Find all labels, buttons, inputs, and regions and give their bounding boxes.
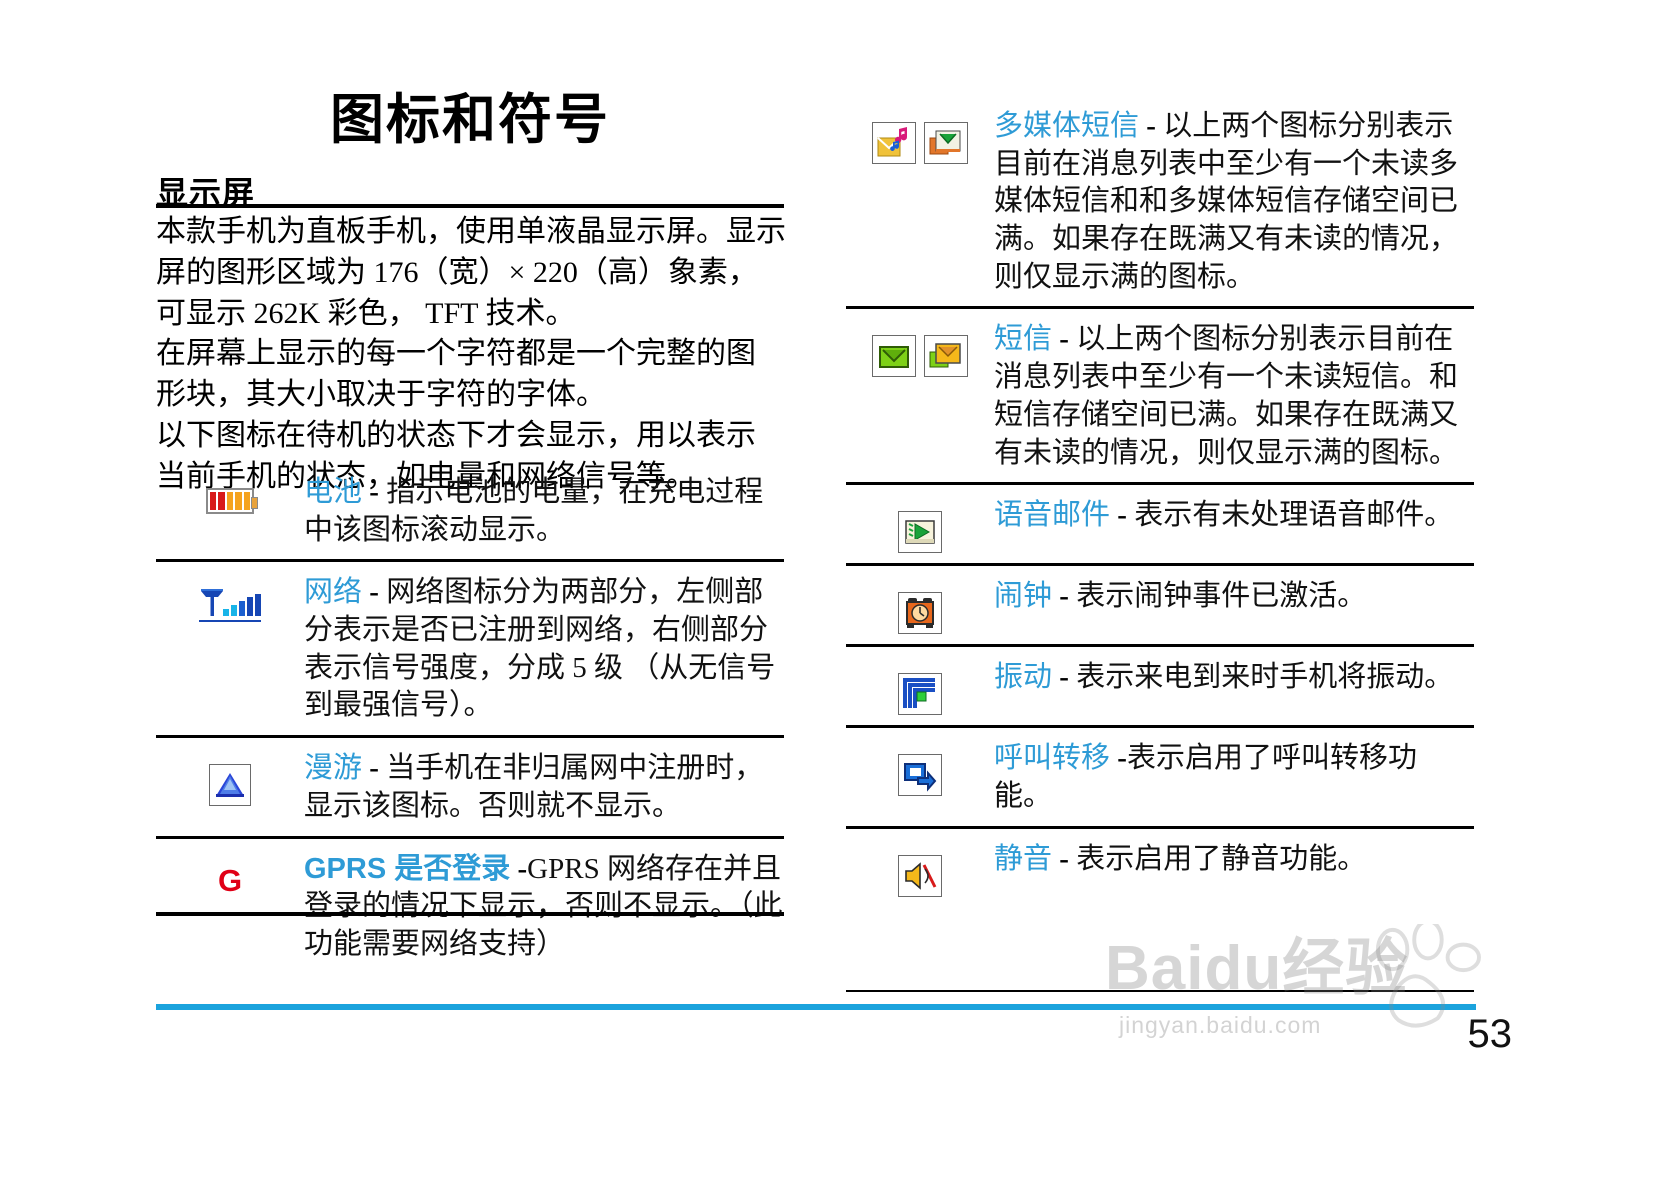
mms-unread-glyph	[876, 126, 912, 160]
intro-line-6: 以下图标在待机的状态下才会显示，用以表示	[156, 416, 788, 457]
battery-bars	[210, 492, 250, 510]
sms-full-glyph	[928, 339, 964, 373]
separator: -	[369, 576, 379, 608]
call-forward-glyph	[902, 758, 938, 792]
table-row: 网络 - 网络图标分为两部分，左侧部分表示是否已注册到网络，右侧部分表示信号强度…	[156, 559, 784, 735]
separator: -	[1059, 843, 1069, 875]
table-row: 短信 - 以上两个图标分别表示目前在消息列表中至少有一个未读短信。和短信存储空间…	[846, 306, 1474, 482]
network-signal-icon	[199, 588, 261, 622]
term-label: 静音	[994, 843, 1052, 875]
right-table-bottom-rule	[846, 990, 1474, 992]
separator: -	[369, 752, 379, 784]
section-rule	[156, 204, 784, 208]
term-label: 短信	[994, 323, 1052, 355]
signal-baseline	[199, 620, 261, 622]
separator: -	[369, 476, 379, 508]
table-row: G GPRS 是否登录 -GPRS 网络存在并且登录的情况下显示，否则不显示。（…	[156, 836, 784, 974]
page-title: 图标和符号	[156, 92, 784, 149]
row-text: 闹钟 - 表示闹钟事件已激活。	[994, 578, 1474, 616]
term-label: 网络	[304, 576, 362, 608]
term-label: 漫游	[304, 752, 362, 784]
table-row: 电池 - 指示电池的电量，在充电过程中该图标滚动显示。	[156, 462, 784, 559]
term-label: 语音邮件	[994, 499, 1110, 531]
vibrate-glyph	[902, 677, 938, 711]
row-text: GPRS 是否登录 -GPRS 网络存在并且登录的情况下显示，否则不显示。（此功…	[304, 851, 784, 964]
right-icon-table: 多媒体短信 - 以上两个图标分别表示目前在消息列表中至少有一个未读多媒体短信和和…	[846, 96, 1474, 907]
separator: -	[1059, 580, 1069, 612]
row-text: 网络 - 网络图标分为两部分，左侧部分表示是否已注册到网络，右侧部分表示信号强度…	[304, 574, 784, 725]
sms-unread-icon	[872, 335, 916, 377]
row-text: 电池 - 指示电池的电量，在充电过程中该图标滚动显示。	[304, 474, 784, 549]
icon-cell	[156, 750, 304, 806]
separator: -	[1146, 110, 1156, 142]
battery-icon	[206, 488, 254, 514]
mute-glyph	[902, 859, 938, 893]
watermark: Baidu经验 jingyan.baidu.com	[1105, 928, 1495, 1048]
table-row: 闹钟 - 表示闹钟事件已激活。	[846, 563, 1474, 644]
gprs-icon: G	[213, 865, 247, 899]
icon-cell	[846, 841, 994, 897]
battery-cap	[251, 497, 258, 509]
intro-line-4: 在屏幕上显示的每一个字符都是一个完整的图	[156, 334, 788, 375]
mms-unread-icon	[872, 122, 916, 164]
mms-full-glyph	[928, 126, 964, 160]
icon-cell: G	[156, 851, 304, 899]
table-row: 静音 - 表示启用了静音功能。	[846, 826, 1474, 907]
left-icon-table: 电池 - 指示电池的电量，在充电过程中该图标滚动显示。	[156, 462, 784, 974]
icon-cell	[156, 574, 304, 622]
icon-cell	[156, 474, 304, 514]
separator: -	[1059, 661, 1069, 693]
icon-cell	[846, 321, 994, 377]
intro-line-5: 形块，其大小取决于字符的字体。	[156, 375, 788, 416]
antenna-glyph	[199, 588, 225, 616]
table-row: 振动 - 表示来电到来时手机将振动。	[846, 644, 1474, 725]
alarm-clock-glyph	[902, 596, 938, 630]
roaming-glyph	[213, 770, 247, 800]
mms-full-icon	[924, 122, 968, 164]
page-number: 53	[1468, 1012, 1513, 1057]
alarm-clock-icon	[898, 592, 942, 634]
sms-unread-glyph	[876, 339, 912, 373]
icon-cell	[846, 659, 994, 715]
intro-paragraph: 本款手机为直板手机，使用单液晶显示屏。显示 屏的图形区域为 176（宽）× 22…	[156, 212, 788, 498]
mute-icon	[898, 855, 942, 897]
intro-line-2: 屏的图形区域为 176（宽）× 220（高）象素，	[156, 253, 788, 294]
footer-bar	[156, 1004, 1476, 1010]
row-text: 多媒体短信 - 以上两个图标分别表示目前在消息列表中至少有一个未读多媒体短信和和…	[994, 108, 1474, 296]
row-description: 表示有未处理语音邮件。	[1134, 499, 1453, 531]
term-label: GPRS 是否登录	[304, 853, 510, 885]
row-description: 表示来电到来时手机将振动。	[1076, 661, 1453, 693]
manual-page: 图标和符号 显示屏 本款手机为直板手机，使用单液晶显示屏。显示 屏的图形区域为 …	[0, 0, 1680, 1188]
watermark-url: jingyan.baidu.com	[1119, 1012, 1321, 1039]
term-label: 多媒体短信	[994, 110, 1139, 142]
row-text: 振动 - 表示来电到来时手机将振动。	[994, 659, 1474, 697]
separator: -	[1117, 742, 1127, 774]
term-label: 呼叫转移	[994, 742, 1110, 774]
icon-cell	[846, 740, 994, 796]
row-description: 表示闹钟事件已激活。	[1076, 580, 1366, 612]
row-description: 表示启用了静音功能。	[1076, 843, 1366, 875]
term-label: 电池	[304, 476, 362, 508]
table-row: 呼叫转移 -表示启用了呼叫转移功能。	[846, 725, 1474, 825]
row-text: 短信 - 以上两个图标分别表示目前在消息列表中至少有一个未读短信。和短信存储空间…	[994, 321, 1474, 472]
separator: -	[518, 853, 528, 885]
separator: -	[1117, 499, 1127, 531]
signal-bars	[223, 594, 261, 616]
voicemail-glyph	[902, 515, 938, 549]
term-label: 闹钟	[994, 580, 1052, 612]
row-text: 语音邮件 - 表示有未处理语音邮件。	[994, 497, 1474, 535]
voicemail-icon	[898, 511, 942, 553]
icon-cell	[846, 497, 994, 553]
call-forward-icon	[898, 754, 942, 796]
sms-full-icon	[924, 335, 968, 377]
roaming-icon	[209, 764, 251, 806]
intro-line-3: 可显示 262K 彩色， TFT 技术。	[156, 294, 788, 335]
separator: -	[1059, 323, 1069, 355]
table-row: 语音邮件 - 表示有未处理语音邮件。	[846, 482, 1474, 563]
left-table-bottom-rule	[156, 912, 784, 916]
icon-cell	[846, 108, 994, 164]
table-row: 漫游 - 当手机在非归属网中注册时，显示该图标。否则就不显示。	[156, 735, 784, 835]
row-text: 静音 - 表示启用了静音功能。	[994, 841, 1474, 879]
table-row: 多媒体短信 - 以上两个图标分别表示目前在消息列表中至少有一个未读多媒体短信和和…	[846, 96, 1474, 306]
row-text: 漫游 - 当手机在非归属网中注册时，显示该图标。否则就不显示。	[304, 750, 784, 825]
icon-cell	[846, 578, 994, 634]
vibrate-icon	[898, 673, 942, 715]
row-text: 呼叫转移 -表示启用了呼叫转移功能。	[994, 740, 1474, 815]
term-label: 振动	[994, 661, 1052, 693]
intro-line-1: 本款手机为直板手机，使用单液晶显示屏。显示	[156, 212, 788, 253]
